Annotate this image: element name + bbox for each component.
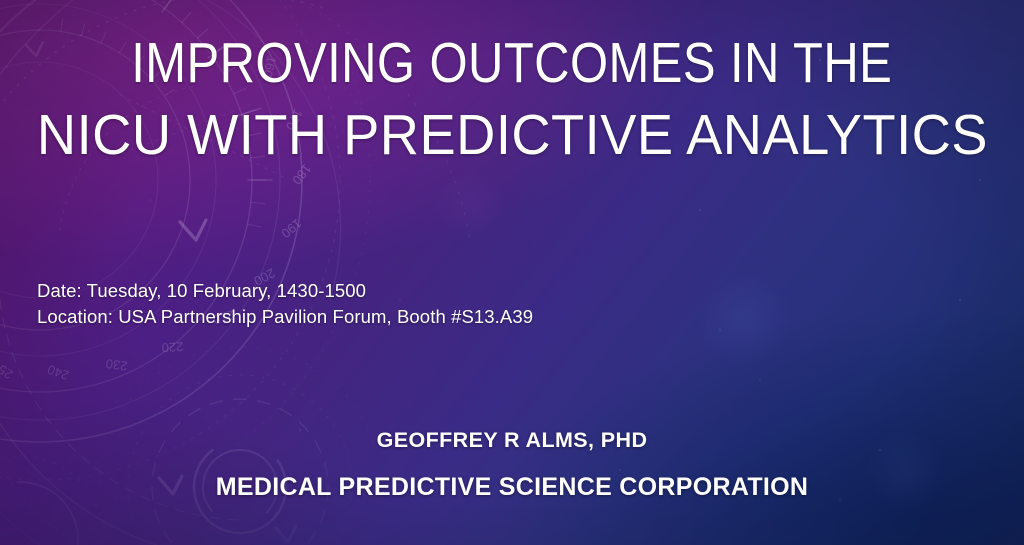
dial-label-220: 220 bbox=[161, 339, 184, 355]
slide-title: IMPROVING OUTCOMES IN THE NICU WITH PRED… bbox=[0, 27, 1024, 171]
dial-label-190: 190 bbox=[278, 216, 304, 241]
event-date-line: Date: Tuesday, 10 February, 1430-1500 bbox=[37, 278, 737, 304]
presenter-name: GEOFFREY R ALMS, PHD bbox=[0, 425, 1024, 455]
title-line-2: NICU WITH PREDICTIVE ANALYTICS bbox=[36, 99, 987, 171]
dial-label-240: 240 bbox=[46, 362, 72, 384]
presenter-organization: MEDICAL PREDICTIVE SCIENCE CORPORATION bbox=[0, 471, 1024, 503]
presentation-title-slide: 160 170 180 190 200 210 220 230 240 250 … bbox=[0, 0, 1024, 545]
title-line-1: IMPROVING OUTCOMES IN THE bbox=[131, 27, 892, 99]
dial-label-250: 250 bbox=[0, 358, 16, 382]
presenter-block: GEOFFREY R ALMS, PHD MEDICAL PREDICTIVE … bbox=[0, 425, 1024, 503]
event-location-line: Location: USA Partnership Pavilion Forum… bbox=[37, 304, 737, 330]
event-details-block: Date: Tuesday, 10 February, 1430-1500 Lo… bbox=[37, 278, 737, 329]
dial-label-230: 230 bbox=[105, 356, 129, 374]
